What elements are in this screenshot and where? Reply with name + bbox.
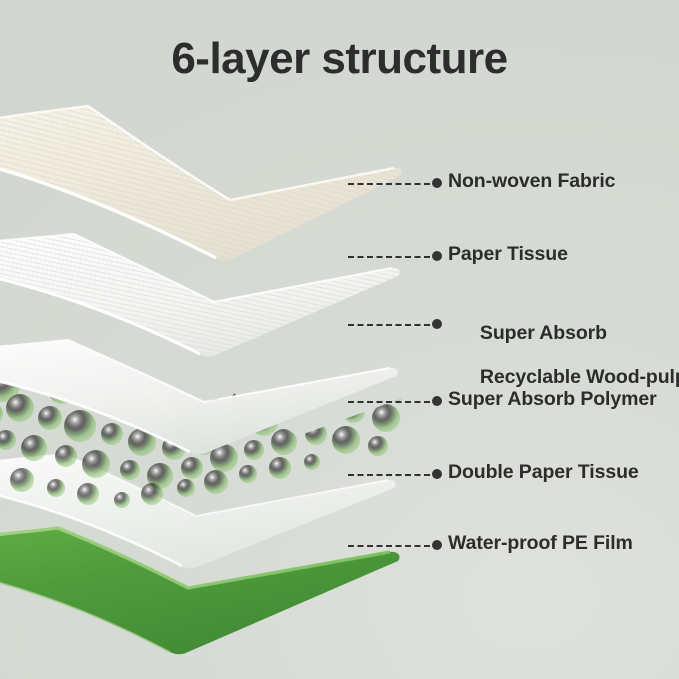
leader-line bbox=[348, 474, 430, 476]
leader-dot bbox=[432, 469, 442, 479]
infographic-canvas: 6-layer structure bbox=[0, 0, 679, 679]
leader-line bbox=[348, 545, 430, 547]
page-title: 6-layer structure bbox=[0, 34, 679, 84]
layer-label-double-paper-tissue: Double Paper Tissue bbox=[448, 461, 639, 483]
leader-dot bbox=[432, 540, 442, 550]
leader-line bbox=[348, 401, 430, 403]
leader-dot bbox=[432, 178, 442, 188]
leader-dot bbox=[432, 319, 442, 329]
layer-label-non-woven-fabric: Non-woven Fabric bbox=[448, 170, 615, 192]
label-line-2: Recyclable Wood-pulp bbox=[480, 366, 679, 388]
leader-line bbox=[348, 183, 430, 185]
layer-stack-illustration bbox=[0, 96, 408, 656]
layer-shape-paper-tissue bbox=[0, 234, 400, 356]
layer-label-super-absorb-polymer: Super Absorb Polymer bbox=[448, 388, 657, 410]
leader-line bbox=[348, 256, 430, 258]
label-line-1: Super Absorb bbox=[480, 322, 607, 344]
leader-dot bbox=[432, 251, 442, 261]
leader-dot bbox=[432, 396, 442, 406]
leader-line bbox=[348, 324, 430, 326]
layer-label-paper-tissue: Paper Tissue bbox=[448, 243, 568, 265]
layer-label-water-proof-pe-film: Water-proof PE Film bbox=[448, 532, 633, 554]
